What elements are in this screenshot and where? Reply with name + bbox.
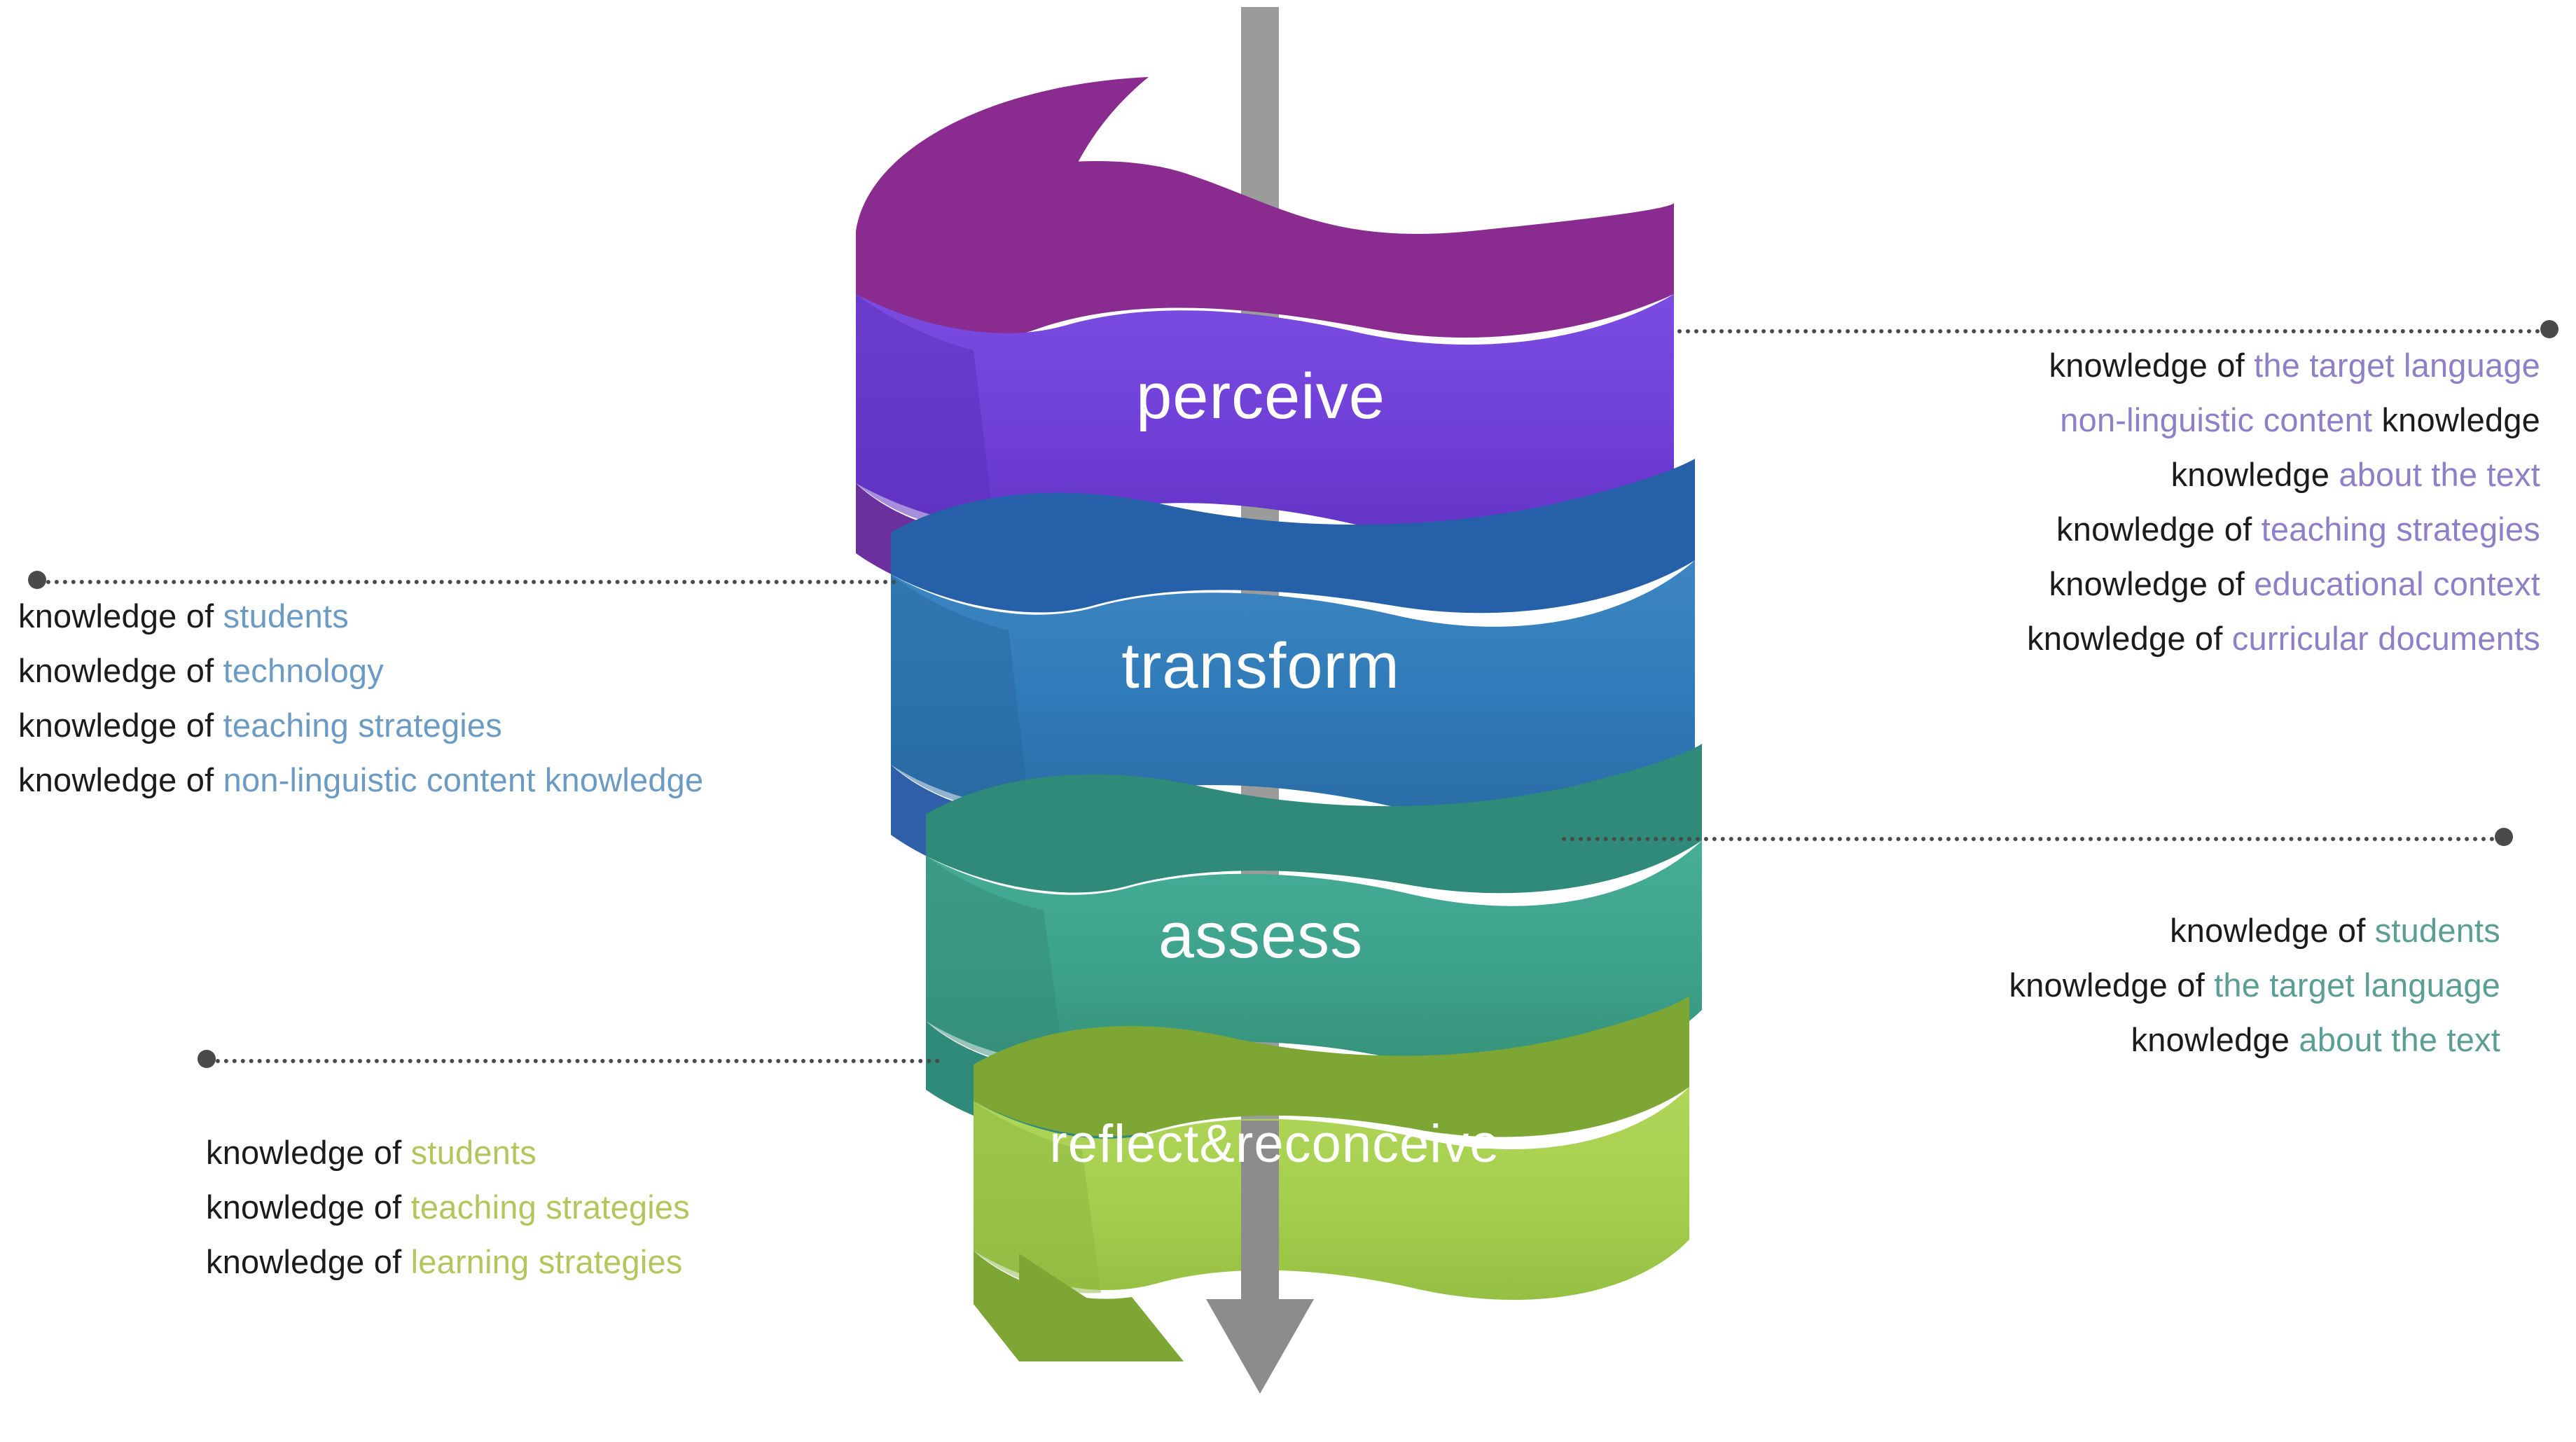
list-item: knowledge of the target language xyxy=(1623,969,2500,1001)
item-prefix: knowledge of xyxy=(2056,511,2262,548)
item-prefix: knowledge of xyxy=(206,1188,411,1226)
callout-assess-endpoint-dot xyxy=(2495,828,2513,846)
item-accent: teaching strategies xyxy=(223,707,502,744)
item-prefix: knowledge of xyxy=(2009,966,2215,1004)
item-accent: students xyxy=(223,597,349,635)
band-reflect xyxy=(974,996,1689,1361)
item-accent: about the text xyxy=(2339,456,2540,493)
list-item: knowledge of teaching strategies xyxy=(18,709,887,742)
list-item: knowledge of the target language xyxy=(1677,349,2540,382)
diagram-canvas: perceive transform assess reflect&reconc… xyxy=(0,0,2576,1442)
list-item: non-linguistic content knowledge xyxy=(1677,403,2540,436)
list-item: knowledge about the text xyxy=(1623,1023,2500,1056)
callout-perceive-leader-line xyxy=(1677,329,2540,333)
item-accent: non-linguistic content xyxy=(2060,401,2372,438)
item-accent: students xyxy=(2375,912,2500,949)
item-prefix: knowledge of xyxy=(18,652,223,689)
callout-assess-leader-line xyxy=(1562,837,2495,841)
list-item: knowledge of non-linguistic content know… xyxy=(18,763,887,796)
callout-transform-leader-line xyxy=(38,580,896,584)
list-item: knowledge of teaching strategies xyxy=(1677,513,2540,546)
callout-assess-list: knowledge of students knowledge of the t… xyxy=(1623,914,2500,1078)
item-prefix: knowledge xyxy=(2171,456,2339,493)
callout-perceive-endpoint-dot xyxy=(2540,320,2558,338)
item-prefix: knowledge of xyxy=(18,707,223,744)
item-prefix: knowledge xyxy=(2131,1021,2299,1058)
callout-transform-list: knowledge of students knowledge of techn… xyxy=(18,599,887,818)
callout-reflect-list: knowledge of students knowledge of teach… xyxy=(206,1136,940,1300)
item-accent: educational context xyxy=(2254,565,2540,602)
item-accent: teaching strategies xyxy=(411,1188,690,1226)
item-accent: students xyxy=(411,1134,536,1171)
item-accent: about the text xyxy=(2299,1021,2500,1058)
list-item: knowledge about the text xyxy=(1677,458,2540,491)
callout-perceive-list: knowledge of the target language non-lin… xyxy=(1677,349,2540,677)
band-label-perceive: perceive xyxy=(1037,364,1485,429)
list-item: knowledge of students xyxy=(1623,914,2500,947)
item-prefix: knowledge of xyxy=(206,1243,411,1280)
item-prefix: knowledge of xyxy=(18,597,223,635)
list-item: knowledge of learning strategies xyxy=(206,1245,940,1278)
list-item: knowledge of curricular documents xyxy=(1677,622,2540,655)
list-item: knowledge of students xyxy=(18,599,887,632)
item-prefix: knowledge of xyxy=(2049,565,2255,602)
item-prefix: knowledge of xyxy=(2170,912,2375,949)
item-prefix: knowledge of xyxy=(206,1134,411,1171)
item-accent: curricular documents xyxy=(2232,620,2540,657)
item-accent: the target language xyxy=(2254,347,2540,384)
item-accent: technology xyxy=(223,652,384,689)
list-item: knowledge of teaching strategies xyxy=(206,1191,940,1223)
band-label-assess: assess xyxy=(1051,903,1471,968)
item-accent: teaching strategies xyxy=(2262,511,2540,548)
list-item: knowledge of students xyxy=(206,1136,940,1169)
item-accent: the target language xyxy=(2214,966,2500,1004)
band-label-reflect: reflect&reconceive xyxy=(981,1118,1569,1171)
band-label-transform: transform xyxy=(1016,634,1506,698)
item-accent: non-linguistic content knowledge xyxy=(223,761,704,798)
callout-reflect-leader-line xyxy=(207,1059,940,1063)
item-accent: learning strategies xyxy=(411,1243,683,1280)
list-item: knowledge of technology xyxy=(18,654,887,687)
item-prefix: knowledge of xyxy=(2027,620,2232,657)
item-prefix: knowledge of xyxy=(2049,347,2255,384)
item-prefix: knowledge of xyxy=(18,761,223,798)
item-suffix: knowledge xyxy=(2372,401,2540,438)
list-item: knowledge of educational context xyxy=(1677,567,2540,600)
